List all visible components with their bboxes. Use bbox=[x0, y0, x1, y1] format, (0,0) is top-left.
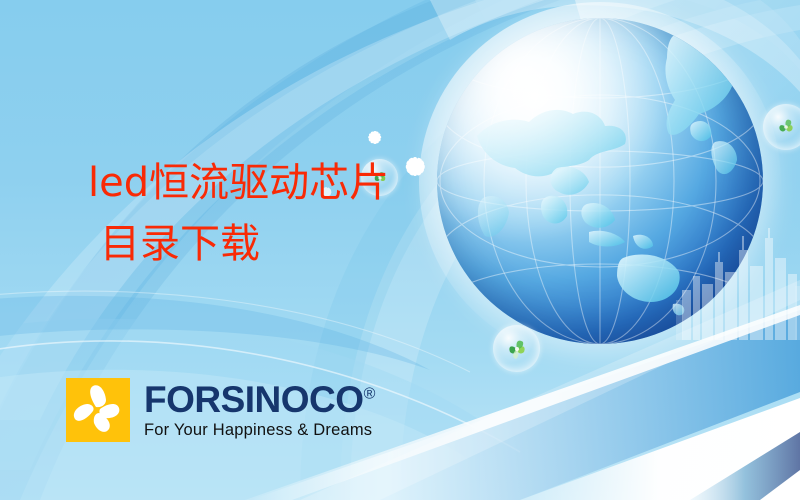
headline-line-2: 目录下载 bbox=[100, 224, 428, 264]
green-leaf-pinwheel-icon bbox=[773, 114, 799, 140]
bubble-icon bbox=[493, 325, 540, 372]
logo-tagline: For Your Happiness & Dreams bbox=[144, 421, 375, 440]
daisy-flower-icon bbox=[364, 126, 386, 148]
headline-line-1: led恒流驱动芯片 bbox=[88, 163, 428, 203]
brand-logo: FORSINOCO® For Your Happiness & Dreams bbox=[66, 378, 375, 442]
logo-wordmark: FORSINOCO® bbox=[144, 381, 375, 418]
four-petal-flower-icon bbox=[66, 378, 130, 442]
promo-banner: led恒流驱动芯片 目录下载 FORSINOCO® For Your Happ bbox=[0, 0, 800, 500]
logo-wordmark-text: FORSINOCO bbox=[144, 379, 364, 420]
city-skyline-icon bbox=[676, 228, 800, 340]
trademark-symbol: ® bbox=[364, 386, 375, 403]
page-title: led恒流驱动芯片 目录下载 bbox=[88, 163, 428, 264]
logo-petals bbox=[66, 378, 130, 442]
green-leaf-pinwheel-icon bbox=[503, 335, 531, 363]
